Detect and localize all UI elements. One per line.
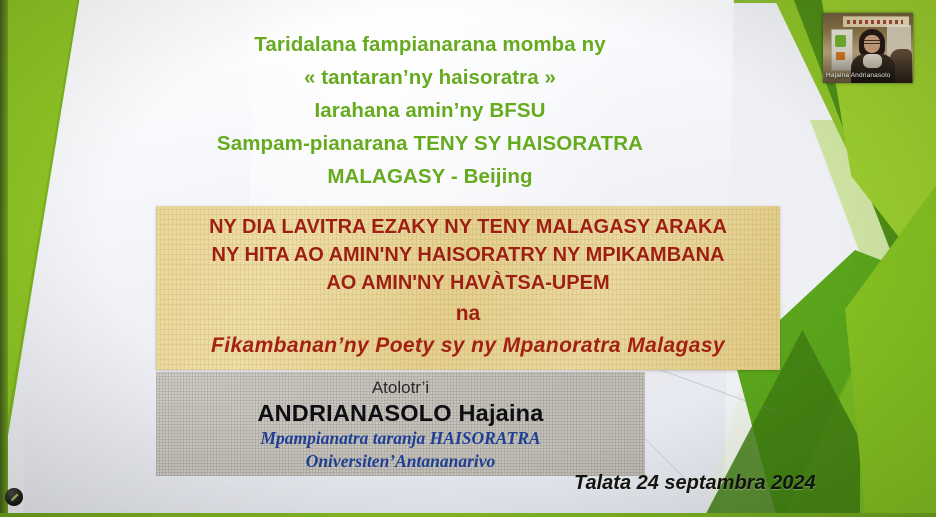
slide-bottom-green-strip [0,513,936,517]
webcam-participant-name: Hajaina Andrianasolo [826,72,890,80]
subject-line-1: NY DIA LAVITRA EZAKY NY TENY MALAGASY AR… [156,213,780,241]
presenter-role: Mpampianatra taranja HAISORATRA [156,427,645,450]
subject-papyrus-box: NY DIA LAVITRA EZAKY NY TENY MALAGASY AR… [156,206,780,370]
slide-title-line-3: Iarahana amin’ny BFSU [150,94,710,127]
screen-share-stage: Taridalana fampianarana momba ny « tanta… [0,0,936,517]
webcam-video-tile[interactable]: Hajaina Andrianasolo [823,13,913,83]
presenter-offered-by-label: Atolotr’i [156,376,645,399]
slide-title-line-2: « tantaran’ny haisoratra » [150,61,710,94]
subject-alt-title: Fikambanan’ny Poety sy ny Mpanoratra Mal… [156,330,780,361]
subject-line-2: NY HITA AO AMIN'NY HAISORATRY NY MPIKAMB… [156,241,780,269]
presenter-institution: Oniversiten’Antananarivo [156,450,645,473]
subject-line-3: AO AMIN'NY HAVÀTSA-UPEM [156,269,780,297]
slide-title-line-5: MALAGASY - Beijing [150,160,710,193]
presenter-linen-box: Atolotr’i ANDRIANASOLO Hajaina Mpampiana… [156,372,645,476]
slide-title-line-1: Taridalana fampianarana momba ny [150,28,710,61]
decorative-green-triangle-left-inner [0,0,78,466]
slide-date: Talata 24 septambra 2024 [574,472,816,495]
presenter-name: ANDRIANASOLO Hajaina [156,399,645,427]
annotation-pen-icon[interactable] [5,488,23,506]
subject-conjunction: na [156,297,780,330]
slide-title-line-4: Sampam-pianarana TENY SY HAISORATRA [150,127,710,160]
presentation-slide: Taridalana fampianarana momba ny « tanta… [0,0,936,517]
slide-title-block: Taridalana fampianarana momba ny « tanta… [150,28,710,193]
slide-left-edge-shadow [0,0,8,517]
